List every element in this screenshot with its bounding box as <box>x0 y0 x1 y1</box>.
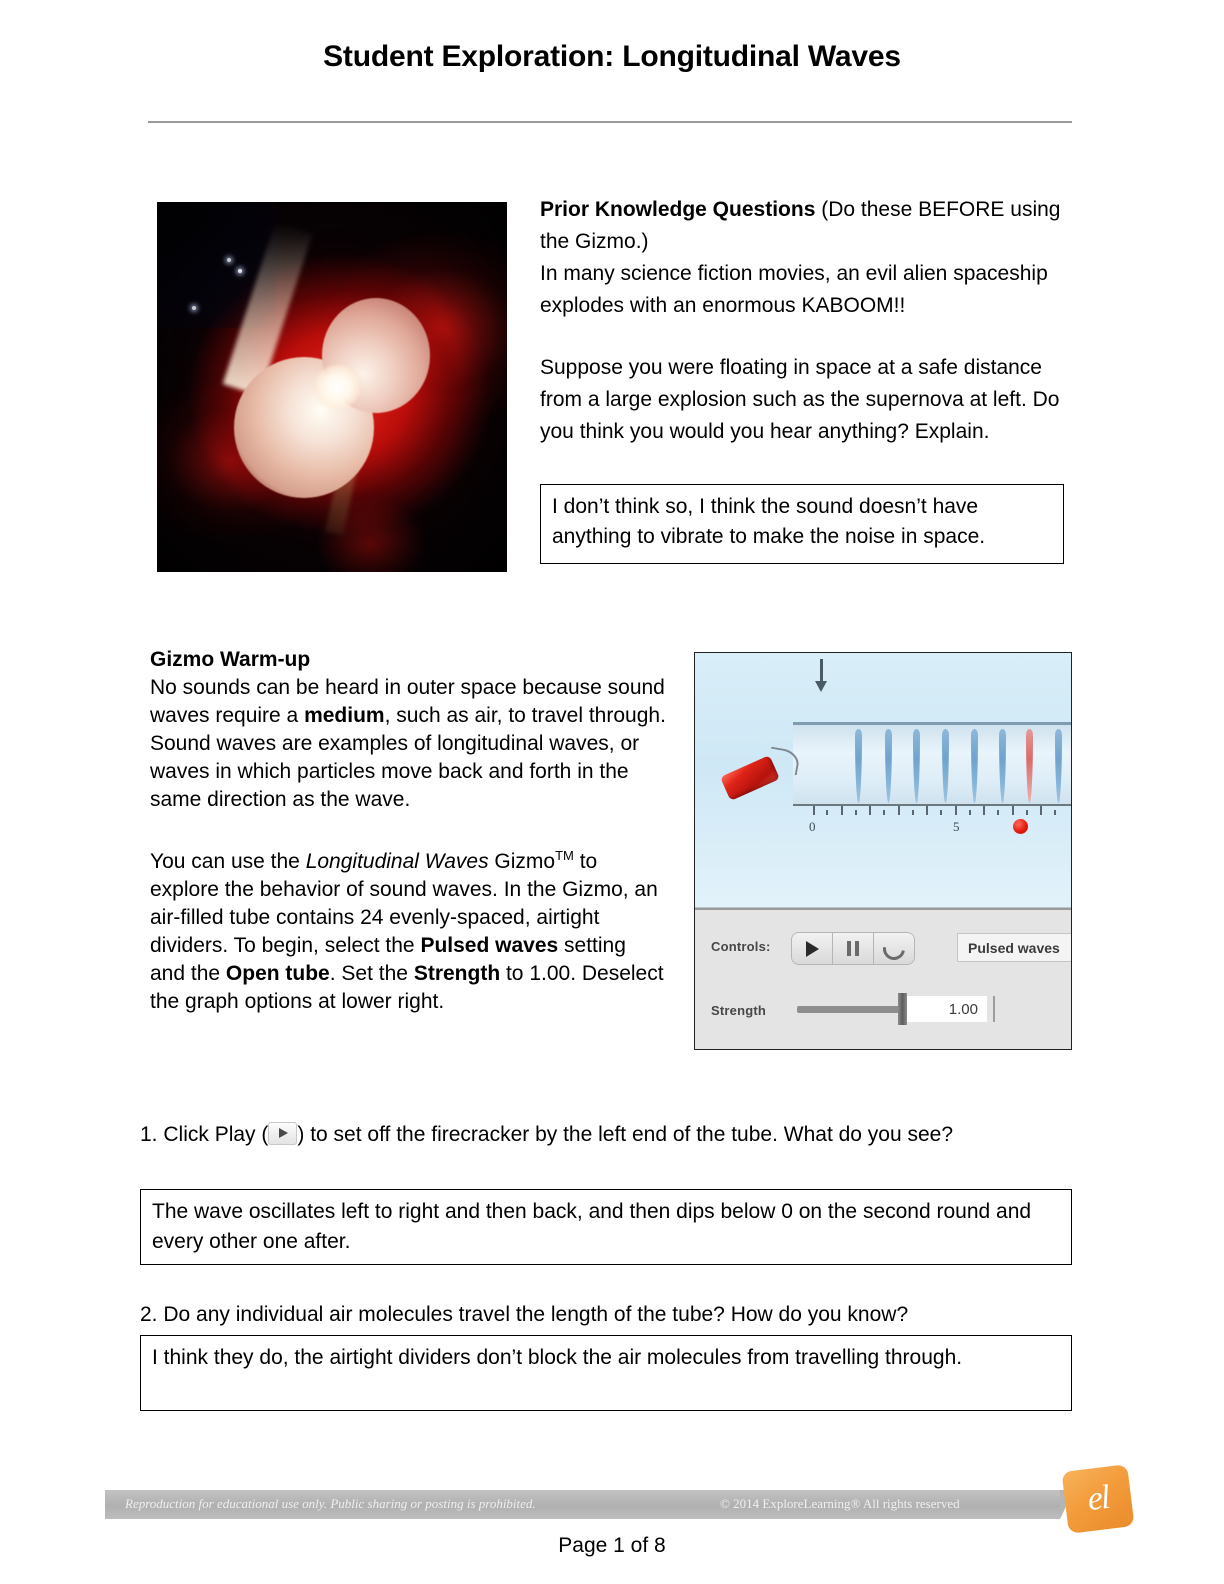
warmup-p2-italic: Longitudinal Waves <box>306 850 489 873</box>
position-marker-dot[interactable] <box>1013 819 1028 834</box>
playback-button-group <box>791 932 915 965</box>
prior-knowledge-heading-bold: Prior Knowledge Questions <box>540 198 815 221</box>
play-icon <box>806 941 819 957</box>
warmup-paragraph-2: You can use the Longitudinal Waves Gizmo… <box>150 842 666 1016</box>
question-1-number: 1. <box>140 1123 158 1146</box>
prior-knowledge-block: Prior Knowledge Questions (Do these BEFO… <box>540 194 1062 448</box>
strength-field-caret <box>993 996 995 1022</box>
gizmo-screenshot: 0 5 Controls: Pulsed waves Strength 1.00 <box>694 652 1072 1050</box>
strength-slider-thumb[interactable] <box>898 993 907 1025</box>
warmup-p2-bold2: Open tube <box>226 962 330 985</box>
play-button[interactable] <box>792 933 833 964</box>
footer-bar: Reproduction for educational use only. P… <box>105 1490 1060 1519</box>
question-1-text-before: Click Play ( <box>163 1123 268 1146</box>
play-icon <box>268 1122 297 1145</box>
tube-divider-highlighted <box>1026 729 1033 803</box>
axis-tick-label-5: 5 <box>953 819 960 835</box>
trademark-symbol: TM <box>555 848 574 863</box>
warmup-heading-text: Gizmo Warm-up <box>150 648 310 671</box>
question-1: 1. Click Play () to set off the firecrac… <box>140 1118 1075 1151</box>
question-2-answer-box[interactable]: I think they do, the airtight dividers d… <box>140 1335 1072 1411</box>
prior-knowledge-intro: In many science fiction movies, an evil … <box>540 258 1062 322</box>
reset-button[interactable] <box>874 933 914 964</box>
pause-icon <box>847 941 859 956</box>
paragraph-spacer <box>150 814 666 842</box>
pause-button[interactable] <box>833 933 874 964</box>
warmup-p2-e: . Set the <box>330 962 414 985</box>
warmup-p2-b: Gizmo <box>489 850 556 873</box>
supernova-image <box>157 202 507 572</box>
prior-knowledge-answer-box[interactable]: I don’t think so, I think the sound does… <box>540 484 1064 564</box>
wave-mode-dropdown[interactable]: Pulsed waves <box>957 933 1072 962</box>
page-title: Student Exploration: Longitudinal Waves <box>0 40 1224 74</box>
tube-divider <box>942 729 949 803</box>
question-2: 2. Do any individual air molecules trave… <box>140 1298 1075 1331</box>
footer-copyright: © 2014 ExploreLearning® All rights reser… <box>720 1496 960 1512</box>
tube-divider <box>1055 729 1062 803</box>
explorelearning-logo: el <box>1061 1464 1134 1534</box>
tube-divider <box>971 729 978 803</box>
tube-divider <box>855 729 862 803</box>
prior-knowledge-heading: Prior Knowledge Questions (Do these BEFO… <box>540 194 1062 258</box>
document-page: Student Exploration: Longitudinal Waves … <box>0 0 1224 1584</box>
warmup-heading: Gizmo Warm-up <box>150 646 666 674</box>
ruler-axis <box>793 804 1072 806</box>
header-divider <box>148 121 1072 123</box>
axis-tick-label-0: 0 <box>809 819 816 835</box>
paragraph-spacer <box>540 322 1062 352</box>
question-2-text: Do any individual air molecules travel t… <box>163 1303 908 1326</box>
strength-slider-track[interactable] <box>797 1006 903 1013</box>
arrow-shaft <box>820 659 823 683</box>
strength-label: Strength <box>711 1003 766 1018</box>
image-vignette <box>157 202 507 572</box>
gizmo-controls-panel: Controls: Pulsed waves Strength 1.00 <box>695 908 1072 1050</box>
arrow-head <box>815 681 827 692</box>
warmup-p2-a: You can use the <box>150 850 306 873</box>
footer-reproduction-notice: Reproduction for educational use only. P… <box>125 1496 536 1512</box>
warmup-paragraph-1: No sounds can be heard in outer space be… <box>150 674 666 814</box>
warmup-p1-bold: medium <box>304 704 385 727</box>
warmup-p2-bold3: Strength <box>414 962 500 985</box>
reset-icon <box>879 933 910 964</box>
page-number: Page 1 of 8 <box>0 1534 1224 1558</box>
gizmo-warmup-block: Gizmo Warm-up No sounds can be heard in … <box>150 646 666 1016</box>
air-tube <box>793 722 1072 804</box>
question-1-answer-box[interactable]: The wave oscillates left to right and th… <box>140 1189 1072 1265</box>
strength-value-field[interactable]: 1.00 <box>907 996 987 1022</box>
prior-knowledge-question: Suppose you were floating in space at a … <box>540 352 1062 448</box>
tube-divider <box>913 729 920 803</box>
tube-divider <box>999 729 1006 803</box>
warmup-p2-bold1: Pulsed waves <box>420 934 558 957</box>
tube-divider <box>885 729 892 803</box>
gizmo-simulation-stage: 0 5 <box>695 653 1072 908</box>
question-2-number: 2. <box>140 1303 158 1326</box>
question-1-text-after: ) to set off the firecracker by the left… <box>297 1123 953 1146</box>
controls-label: Controls: <box>711 939 771 954</box>
